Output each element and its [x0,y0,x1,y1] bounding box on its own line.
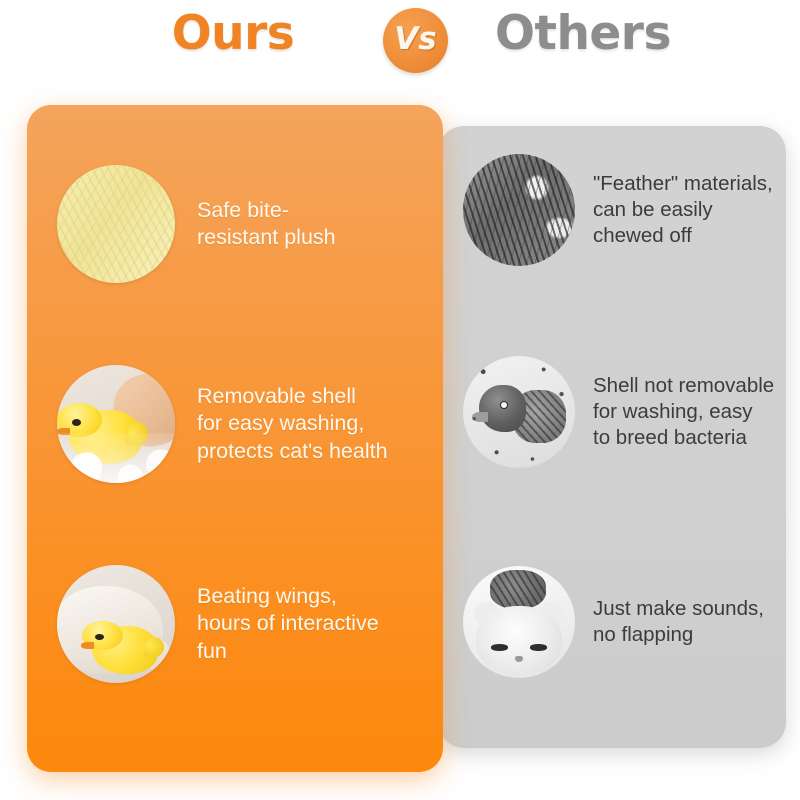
cat-face [476,606,561,673]
vs-badge: Vs [383,8,448,73]
ours-row-1-text: Safe bite- resistant plush [197,197,336,252]
comparison-infographic: Ours Vs Others "Feather" materials, can … [0,0,800,800]
water-suds [57,433,175,483]
ours-panel: Safe bite- resistant plush [27,105,443,772]
others-row-1-line-3: chewed off [593,223,773,249]
feather-toy-shape [490,570,546,608]
cat-playing-art [57,565,175,683]
cat-playing-chick-toy-thumb [57,565,175,683]
ours-heading: Ours [118,6,348,61]
others-row-1: "Feather" materials, can be easily chewe… [463,154,783,266]
ours-row-3: Beating wings, hours of interactive fun [57,565,437,683]
ours-row-3-line-1: Beating wings, [197,583,379,610]
feather-texture-thumb [463,154,575,266]
others-heading: Others [452,6,714,61]
others-row-2-text: Shell not removable for washing, easy to… [593,373,774,451]
cat-eye-right [530,644,547,651]
others-row-1-line-2: can be easily [593,197,773,223]
ours-row-3-line-3: fun [197,638,379,665]
chick-beak [81,642,94,648]
chick-eye [72,419,82,426]
others-row-2-line-3: to breed bacteria [593,425,774,451]
others-row-3-line-2: no flapping [593,622,764,648]
ours-row-2-line-1: Removable shell [197,383,388,410]
ours-row-1-line-2: resistant plush [197,224,336,251]
ours-row-1-line-1: Safe bite- [197,197,336,224]
plush-fur-art [57,165,175,283]
others-row-2: Shell not removable for washing, easy to… [463,356,783,468]
others-row-2-line-1: Shell not removable [593,373,774,399]
vs-badge-label: Vs [383,8,448,73]
ours-row-2-line-3: protects cat's health [197,438,388,465]
ours-row-2-text: Removable shell for easy washing, protec… [197,383,388,465]
chick-toy-washing-thumb [57,365,175,483]
others-row-3-line-1: Just make sounds, [593,596,764,622]
scattered-debris [463,356,575,468]
chick-eye [95,634,104,640]
ours-row-3-line-2: hours of interactive [197,610,379,637]
gray-cat-art [463,566,575,678]
ours-row-3-text: Beating wings, hours of interactive fun [197,583,379,665]
feather-texture-art [463,154,575,266]
cat-eye-left [491,644,508,651]
header: Ours Vs Others [0,0,800,86]
feathered-bird-toy-debris-thumb [463,356,575,468]
others-panel: "Feather" materials, can be easily chewe… [438,126,786,748]
ours-row-2: Removable shell for easy washing, protec… [57,365,437,483]
chick-tail [144,637,164,657]
others-row-1-line-1: "Feather" materials, [593,171,773,197]
chick-washing-art [57,365,175,483]
plush-fur-texture-thumb [57,165,175,283]
chick-toy-shape [92,626,158,673]
others-row-3-text: Just make sounds, no flapping [593,596,764,648]
feathered-bird-toy-art [463,356,575,468]
ours-row-1: Safe bite- resistant plush [57,165,437,283]
ours-row-2-line-2: for easy washing, [197,410,388,437]
others-row-3: Just make sounds, no flapping [463,566,783,678]
others-row-2-line-2: for washing, easy [593,399,774,425]
cat-with-feather-toy-thumb [463,566,575,678]
others-row-1-text: "Feather" materials, can be easily chewe… [593,171,773,249]
